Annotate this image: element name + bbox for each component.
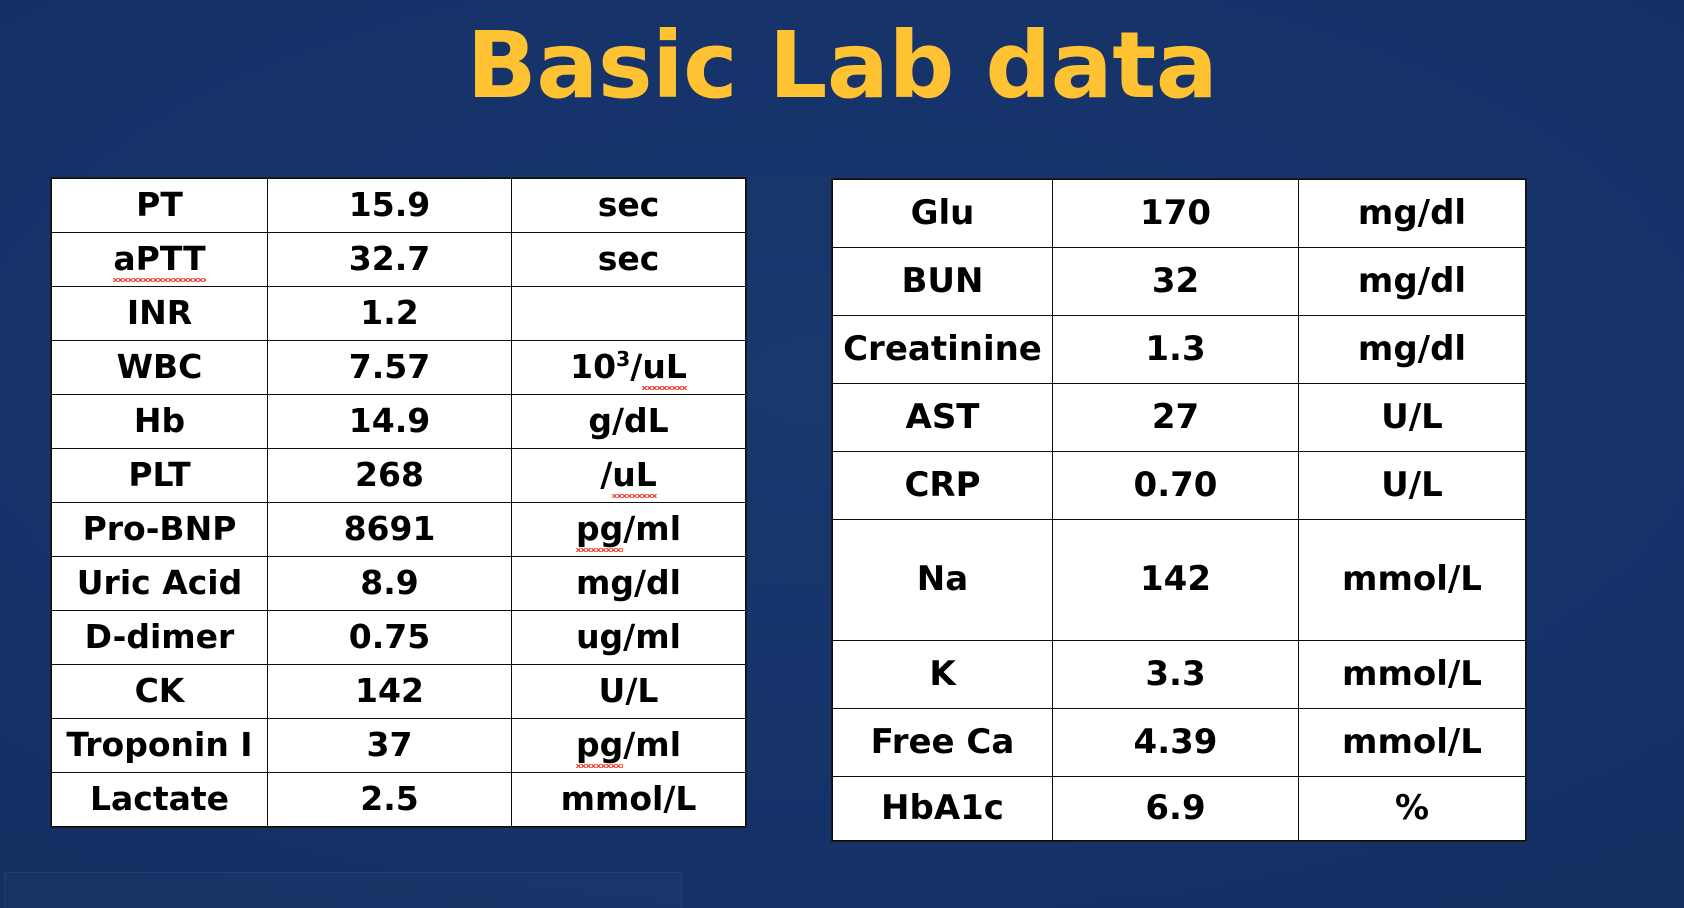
lab-test-value: 6.9 bbox=[1053, 777, 1299, 841]
lab-test-value: 142 bbox=[268, 665, 512, 719]
lab-test-unit: mmol/L bbox=[1299, 709, 1526, 777]
lab-test-name: Na bbox=[833, 520, 1053, 641]
lab-test-unit: mmol/L bbox=[1299, 641, 1526, 709]
lab-test-value: 4.39 bbox=[1053, 709, 1299, 777]
table-row: aPTT32.7sec bbox=[52, 233, 746, 287]
table-row: AST27U/L bbox=[833, 384, 1526, 452]
table-row: CK142U/L bbox=[52, 665, 746, 719]
table-row: Free Ca4.39mmol/L bbox=[833, 709, 1526, 777]
table-row: CRP0.70U/L bbox=[833, 452, 1526, 520]
lab-test-unit: pg/ml bbox=[512, 719, 746, 773]
lab-test-value: 0.75 bbox=[268, 611, 512, 665]
lab-table-left-body: PT15.9secaPTT32.7secINR1.2WBC7.57103/uLH… bbox=[52, 179, 746, 827]
lab-test-value: 2.5 bbox=[268, 773, 512, 827]
lab-test-value: 32 bbox=[1053, 248, 1299, 316]
spellcheck-underlined-word: uL bbox=[642, 350, 687, 385]
table-row: INR1.2 bbox=[52, 287, 746, 341]
lab-test-name: Troponin I bbox=[52, 719, 268, 773]
lab-test-unit: U/L bbox=[1299, 452, 1526, 520]
lab-test-unit: % bbox=[1299, 777, 1526, 841]
lab-table-left: PT15.9secaPTT32.7secINR1.2WBC7.57103/uLH… bbox=[51, 178, 746, 827]
lab-test-unit: g/dL bbox=[512, 395, 746, 449]
table-row: K3.3mmol/L bbox=[833, 641, 1526, 709]
spellcheck-underlined-word: aPTT bbox=[113, 242, 205, 277]
table-row: Uric Acid8.9mg/dl bbox=[52, 557, 746, 611]
lab-test-unit: /uL bbox=[512, 449, 746, 503]
lab-test-name: Free Ca bbox=[833, 709, 1053, 777]
lab-test-name: Pro-BNP bbox=[52, 503, 268, 557]
lab-test-name: D-dimer bbox=[52, 611, 268, 665]
lab-test-unit: U/L bbox=[512, 665, 746, 719]
lab-test-unit: sec bbox=[512, 233, 746, 287]
lab-test-unit bbox=[512, 287, 746, 341]
table-row: PT15.9sec bbox=[52, 179, 746, 233]
lab-table-right: Glu170mg/dlBUN32mg/dlCreatinine1.3mg/dlA… bbox=[832, 179, 1526, 841]
lab-test-unit: U/L bbox=[1299, 384, 1526, 452]
lab-test-name: Glu bbox=[833, 180, 1053, 248]
lab-test-value: 8691 bbox=[268, 503, 512, 557]
lab-test-value: 1.2 bbox=[268, 287, 512, 341]
lab-test-value: 7.57 bbox=[268, 341, 512, 395]
table-row: Hb14.9g/dL bbox=[52, 395, 746, 449]
table-row: Lactate2.5mmol/L bbox=[52, 773, 746, 827]
lab-test-value: 37 bbox=[268, 719, 512, 773]
spellcheck-underlined-word: pg bbox=[576, 728, 623, 763]
lab-test-name: PLT bbox=[52, 449, 268, 503]
lab-test-name: Uric Acid bbox=[52, 557, 268, 611]
lab-test-name: PT bbox=[52, 179, 268, 233]
lab-test-name: Creatinine bbox=[833, 316, 1053, 384]
spellcheck-underlined-word: uL bbox=[612, 458, 657, 493]
unit-superscript: 3 bbox=[616, 347, 630, 371]
lab-test-name: K bbox=[833, 641, 1053, 709]
table-row: Troponin I37pg/ml bbox=[52, 719, 746, 773]
lab-test-name: WBC bbox=[52, 341, 268, 395]
lab-test-name: CRP bbox=[833, 452, 1053, 520]
lab-test-unit: mg/dl bbox=[1299, 248, 1526, 316]
lab-test-name: INR bbox=[52, 287, 268, 341]
lab-test-value: 170 bbox=[1053, 180, 1299, 248]
lab-test-value: 8.9 bbox=[268, 557, 512, 611]
lab-test-unit: mg/dl bbox=[1299, 180, 1526, 248]
empty-placeholder-box bbox=[4, 872, 682, 908]
lab-test-unit: mg/dl bbox=[1299, 316, 1526, 384]
table-row: HbA1c6.9% bbox=[833, 777, 1526, 841]
lab-test-name: CK bbox=[52, 665, 268, 719]
lab-test-unit: 103/uL bbox=[512, 341, 746, 395]
lab-test-name: Hb bbox=[52, 395, 268, 449]
lab-test-value: 27 bbox=[1053, 384, 1299, 452]
lab-test-unit: sec bbox=[512, 179, 746, 233]
table-row: PLT268/uL bbox=[52, 449, 746, 503]
lab-test-value: 0.70 bbox=[1053, 452, 1299, 520]
table-row: Na142mmol/L bbox=[833, 520, 1526, 641]
table-row: D-dimer0.75ug/ml bbox=[52, 611, 746, 665]
lab-test-value: 142 bbox=[1053, 520, 1299, 641]
page-title: Basic Lab data bbox=[0, 12, 1684, 121]
table-row: Glu170mg/dl bbox=[833, 180, 1526, 248]
table-row: Pro-BNP8691pg/ml bbox=[52, 503, 746, 557]
slide-canvas: Basic Lab data PT15.9secaPTT32.7secINR1.… bbox=[0, 0, 1684, 908]
lab-test-value: 15.9 bbox=[268, 179, 512, 233]
lab-test-name: aPTT bbox=[52, 233, 268, 287]
lab-test-name: AST bbox=[833, 384, 1053, 452]
table-row: BUN32mg/dl bbox=[833, 248, 1526, 316]
lab-test-unit: ug/ml bbox=[512, 611, 746, 665]
lab-test-unit: pg/ml bbox=[512, 503, 746, 557]
lab-test-value: 32.7 bbox=[268, 233, 512, 287]
lab-test-unit: mmol/L bbox=[1299, 520, 1526, 641]
lab-test-name: BUN bbox=[833, 248, 1053, 316]
table-row: WBC7.57103/uL bbox=[52, 341, 746, 395]
lab-test-value: 268 bbox=[268, 449, 512, 503]
lab-table-right-body: Glu170mg/dlBUN32mg/dlCreatinine1.3mg/dlA… bbox=[833, 180, 1526, 841]
spellcheck-underlined-word: pg bbox=[576, 512, 623, 547]
lab-test-value: 1.3 bbox=[1053, 316, 1299, 384]
lab-test-value: 14.9 bbox=[268, 395, 512, 449]
lab-test-value: 3.3 bbox=[1053, 641, 1299, 709]
lab-test-unit: mg/dl bbox=[512, 557, 746, 611]
lab-test-unit: mmol/L bbox=[512, 773, 746, 827]
lab-test-name: HbA1c bbox=[833, 777, 1053, 841]
lab-test-name: Lactate bbox=[52, 773, 268, 827]
table-row: Creatinine1.3mg/dl bbox=[833, 316, 1526, 384]
